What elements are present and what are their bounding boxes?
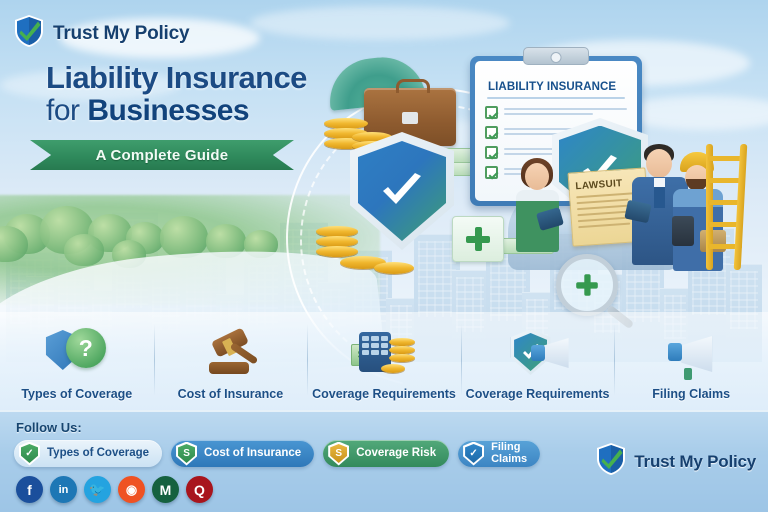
first-aid-kit-icon: [452, 216, 504, 262]
shield-check-icon: [350, 132, 454, 250]
linkedin-icon[interactable]: in: [50, 476, 77, 503]
calculator-coins-icon: $: [351, 326, 417, 382]
feature-item-filing-claims[interactable]: Filing Claims: [614, 312, 768, 410]
brand-name: Trust My Policy: [53, 23, 189, 45]
gold-coins-icon: [316, 246, 358, 257]
gold-coins-icon: [389, 354, 415, 362]
clipboard-clip-icon: [523, 47, 589, 65]
feature-row: ? Types of Coverage Cost of Insurance $: [0, 312, 768, 410]
tree: [64, 234, 104, 266]
follow-us-label: Follow Us:: [16, 420, 82, 435]
gold-coins-icon: [389, 346, 415, 354]
pill-label: Types of Coverage: [47, 448, 149, 460]
megaphone-icon: [658, 326, 724, 382]
feature-label: Types of Coverage: [21, 387, 132, 401]
face: [525, 163, 549, 190]
question-mark-icon: ?: [66, 328, 106, 368]
gold-coins-icon: [389, 338, 415, 346]
footer-pill-cost-of-insurance[interactable]: S Cost of Insurance: [171, 440, 314, 467]
shield-s-icon: S: [328, 442, 349, 466]
headline-line-2-bold: Businesses: [87, 94, 249, 127]
shield-s-icon: S: [176, 442, 197, 466]
clipboard-rule: [487, 97, 625, 99]
shield-check-icon: [596, 442, 626, 481]
ladder-icon: [704, 144, 746, 270]
feature-label: Filing Claims: [652, 387, 730, 401]
footer-bar: Follow Us: ✓ Types of Coverage S Cost of…: [0, 410, 768, 512]
shield-megaphone-icon: [505, 326, 571, 382]
magnifier-icon: [556, 254, 618, 316]
cloud-icon: [250, 6, 510, 40]
feature-item-cost-of-insurance[interactable]: Cost of Insurance: [154, 312, 308, 410]
check-icon: [485, 126, 498, 139]
facebook-icon[interactable]: f: [16, 476, 43, 503]
pill-label: Cost of Insurance: [204, 448, 301, 460]
gold-coins-icon: [374, 262, 414, 274]
feature-label: Coverage Requirements: [466, 387, 610, 401]
megaphone-icon: [531, 338, 569, 368]
subtitle-ribbon: A Complete Guide: [30, 140, 294, 170]
footer-pill-list: ✓ Types of Coverage S Cost of Insurance …: [14, 440, 540, 467]
social-links: f in 🐦 ◉ M Q: [16, 476, 213, 503]
clipboard-check-row: [485, 106, 627, 119]
feature-item-types-of-coverage[interactable]: ? Types of Coverage: [0, 312, 154, 410]
quora-icon[interactable]: Q: [186, 476, 213, 503]
footer-brand-logo[interactable]: Trust My Policy: [596, 442, 756, 481]
check-icon: [485, 106, 498, 119]
shirt-tie: [654, 178, 665, 208]
footer-brand-name: Trust My Policy: [634, 452, 756, 472]
woman-with-tablet: [510, 158, 564, 268]
feature-item-coverage-requirements-1[interactable]: $ Coverage Requirements: [307, 312, 461, 410]
check-icon: [485, 146, 498, 159]
headline-line-2-light: for: [46, 94, 87, 127]
medium-icon[interactable]: M: [152, 476, 179, 503]
subtitle-text: A Complete Guide: [96, 147, 229, 164]
face: [646, 149, 672, 178]
twitter-icon[interactable]: 🐦: [84, 476, 111, 503]
footer-pill-coverage-risk[interactable]: S Coverage Risk: [323, 440, 449, 467]
pill-label: Filing Claims: [491, 442, 527, 465]
footer-pill-types-of-coverage[interactable]: ✓ Types of Coverage: [14, 440, 162, 467]
feature-item-coverage-requirements-2[interactable]: Coverage Requirements: [461, 312, 615, 410]
reddit-icon[interactable]: ◉: [118, 476, 145, 503]
shield-check-icon: ✓: [463, 442, 484, 466]
pill-label: Coverage Risk: [356, 448, 436, 460]
check-icon: [485, 166, 498, 179]
feature-label: Cost of Insurance: [178, 387, 284, 401]
shield-check-icon: [14, 14, 44, 53]
shield-check-icon: ✓: [19, 442, 40, 466]
clipboard-title: LIABILITY INSURANCE: [485, 81, 627, 93]
infographic-poster: Trust My Policy Liability Insurance for …: [0, 0, 768, 512]
tree: [160, 216, 208, 258]
medical-cross-icon: [466, 227, 490, 251]
brand-logo[interactable]: Trust My Policy: [14, 14, 189, 53]
feature-label: Coverage Requirements: [312, 387, 456, 401]
footer-pill-filing-claims[interactable]: ✓ Filing Claims: [458, 440, 540, 467]
gavel-icon: [197, 326, 263, 382]
tool-icon: [672, 216, 694, 246]
checkmark-icon: [379, 171, 425, 211]
gold-coins-icon: [381, 364, 405, 373]
medical-cross-icon: [576, 274, 598, 296]
shield-question-icon: ?: [44, 326, 110, 382]
hero-illustration: LIABILITY INSURANCE LAWSUIT: [300, 40, 768, 320]
